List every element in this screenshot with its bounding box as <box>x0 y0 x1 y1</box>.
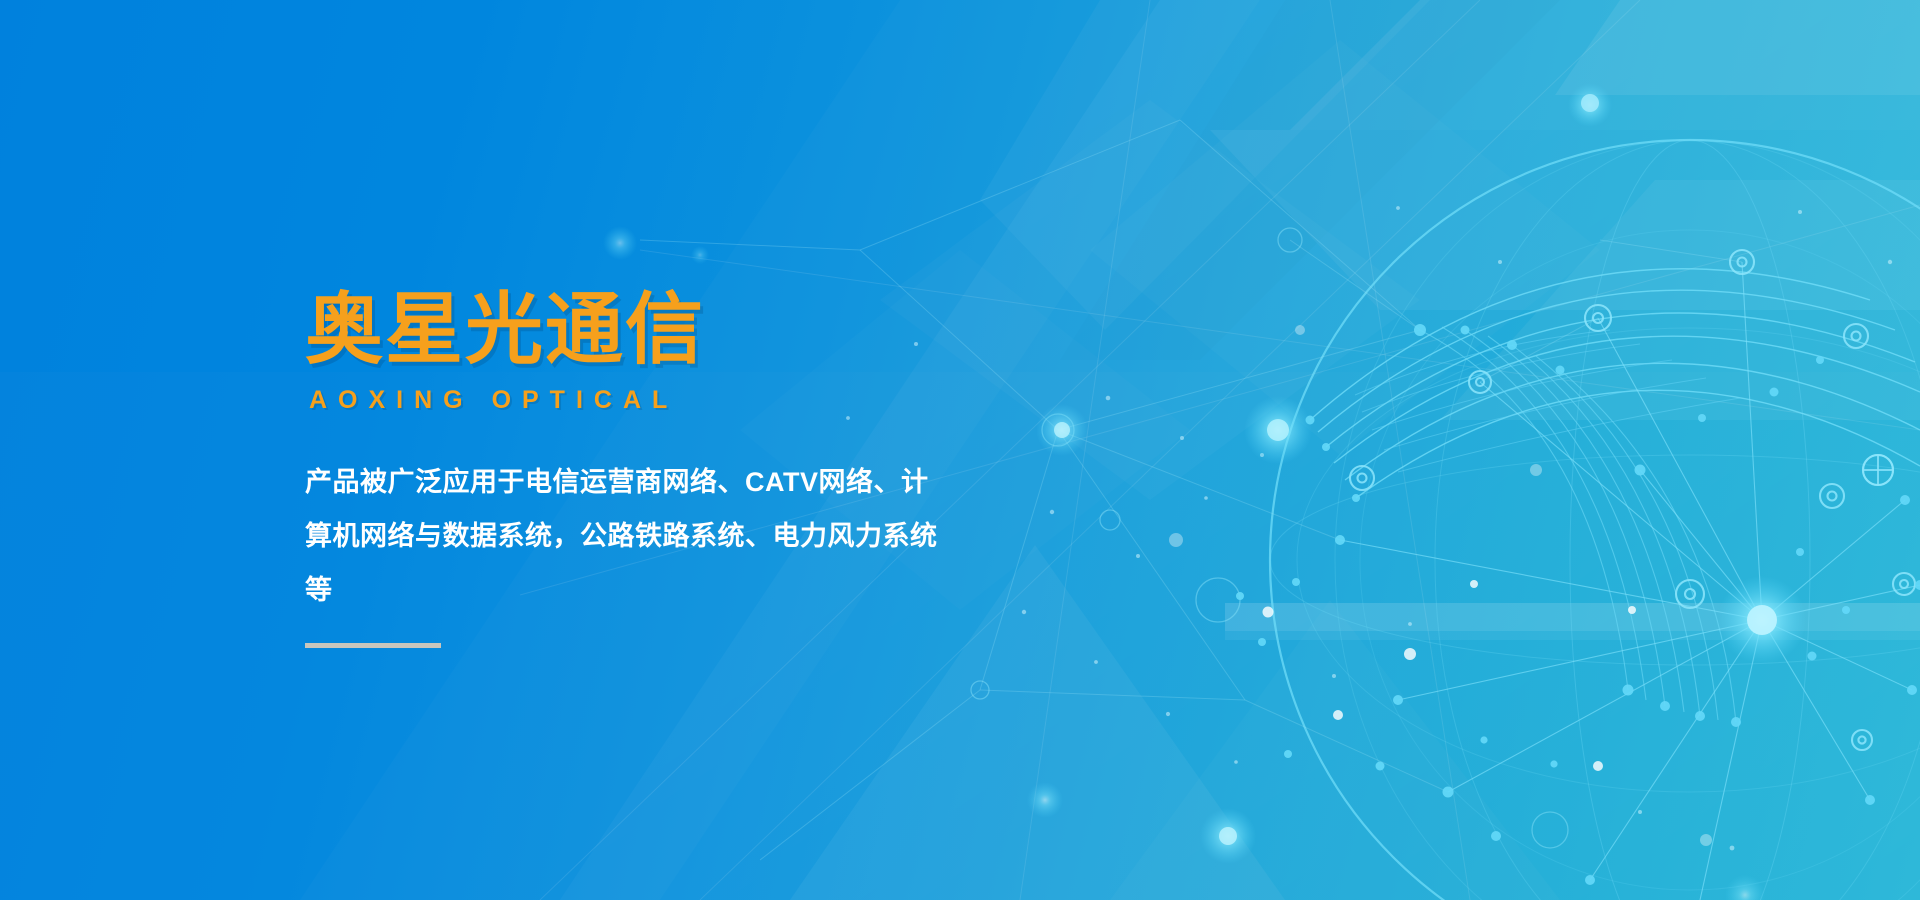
hero-description: 产品被广泛应用于电信运营商网络、CATV网络、计算机网络与数据系统，公路铁路系统… <box>305 455 943 617</box>
page-title: 奥星光通信 <box>305 290 1005 368</box>
hero-content: 奥星光通信 AOXING OPTICAL 产品被广泛应用于电信运营商网络、CAT… <box>305 290 1005 648</box>
hero-banner: 奥星光通信 AOXING OPTICAL 产品被广泛应用于电信运营商网络、CAT… <box>0 0 1920 900</box>
brand-subtitle: AOXING OPTICAL <box>309 386 1005 415</box>
divider-rule <box>305 643 441 648</box>
